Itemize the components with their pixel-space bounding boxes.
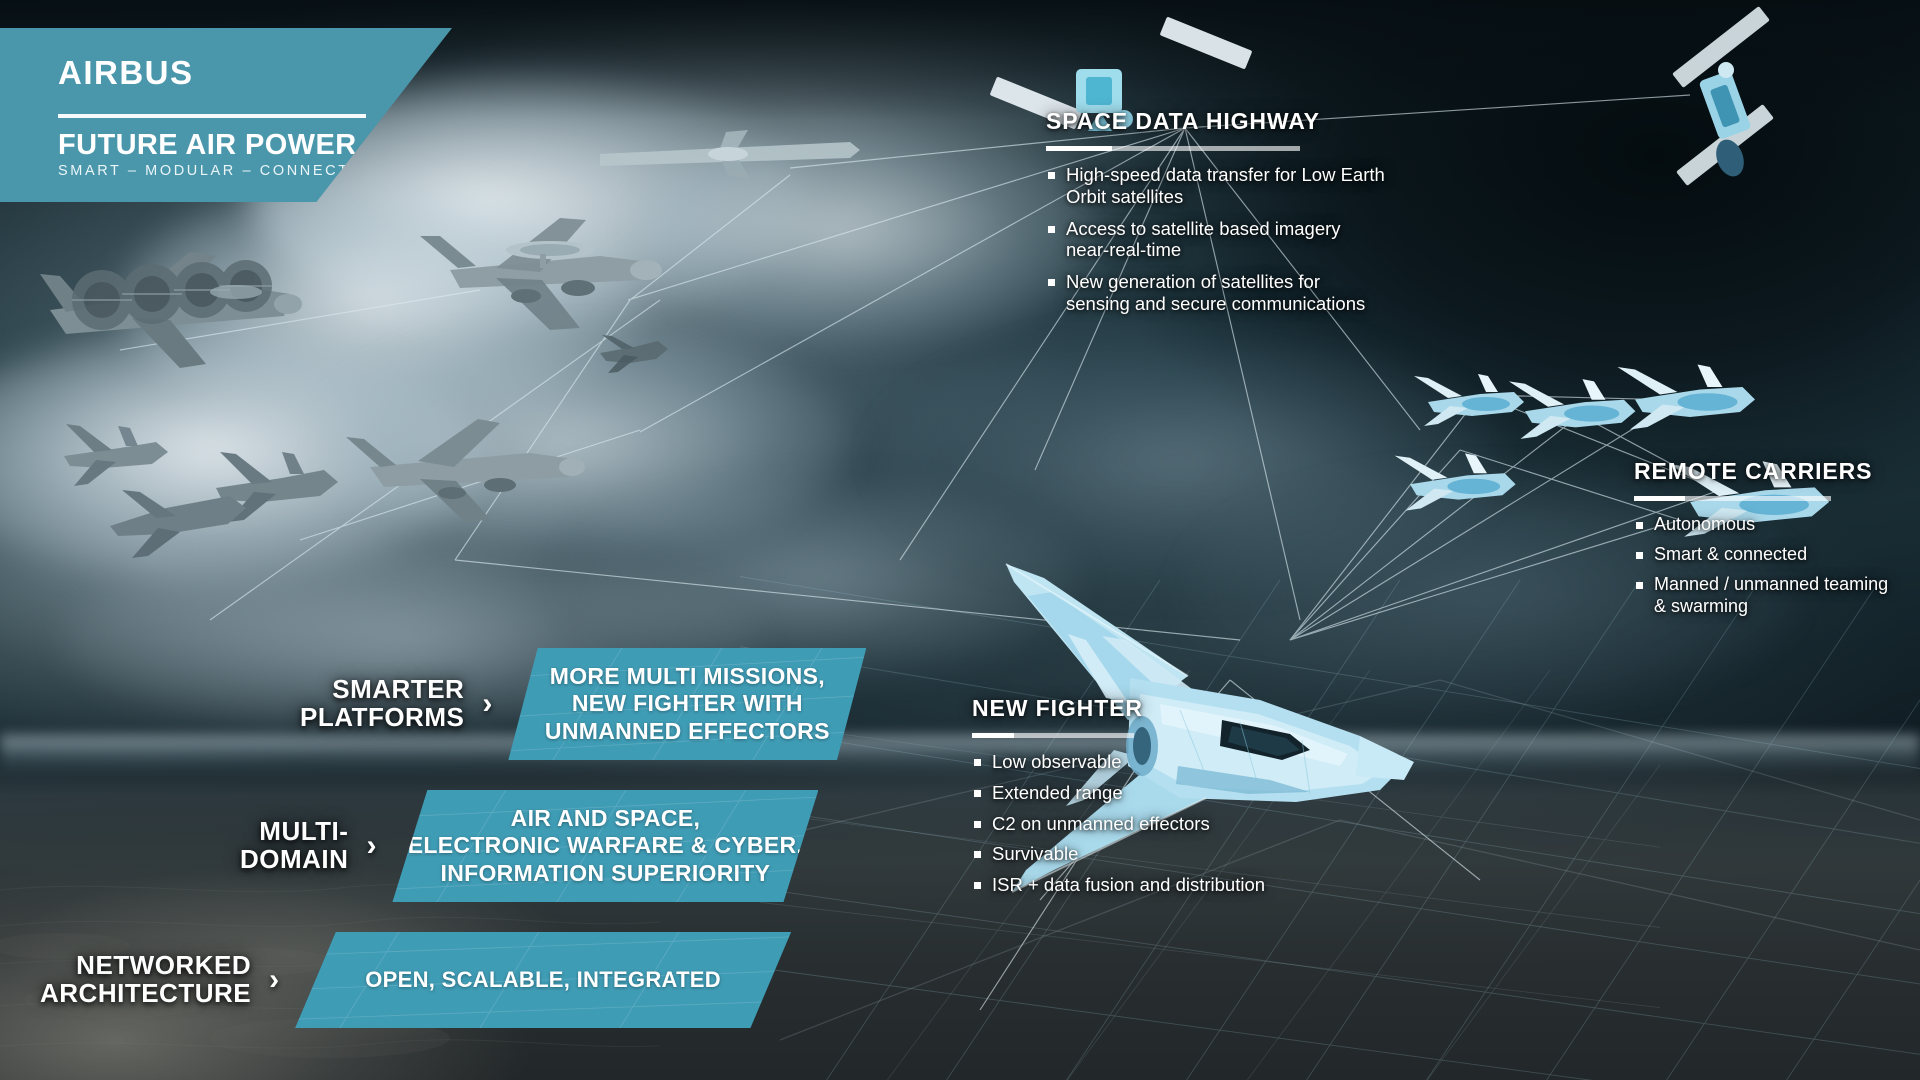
- remote-carrier-drone-icon: [1414, 374, 1524, 426]
- chevron-right-icon: ›: [482, 689, 492, 719]
- callout-space-data-highway: SPACE DATA HIGHWAY High-speed data trans…: [1046, 108, 1386, 325]
- callout-bullet-list: Autonomous Smart & connected Manned / un…: [1634, 514, 1896, 617]
- callout-divider: [1634, 496, 1831, 501]
- list-item: New generation of satellites for sensing…: [1046, 271, 1386, 315]
- remote-carrier-drone-icon: [1509, 379, 1636, 439]
- stealth-bomber-icon: [110, 490, 246, 558]
- list-item: ISR + data fusion and distribution: [972, 874, 1372, 896]
- high-altitude-uav-icon: [600, 130, 860, 178]
- list-item: Access to satellite based imagery near-r…: [1046, 218, 1386, 262]
- pillar-label: SMARTER PLATFORMS: [300, 676, 464, 731]
- awacs-aircraft-icon: [420, 218, 662, 330]
- eurofighter-jet-icon: [64, 424, 168, 486]
- list-item: Smart & connected: [1634, 544, 1896, 565]
- callout-remote-carriers: REMOTE CARRIERS Autonomous Smart & conne…: [1634, 458, 1896, 626]
- pillar-label: NETWORKED ARCHITECTURE: [40, 952, 251, 1007]
- a400m-transport-icon: [40, 252, 302, 368]
- fighter-silhouette-icon: [600, 335, 668, 373]
- callout-new-fighter: NEW FIGHTER Low observable Extended rang…: [972, 695, 1372, 905]
- header-divider: [58, 114, 366, 118]
- remote-carrier-drone-icon: [1395, 453, 1516, 510]
- callout-divider: [972, 733, 1134, 738]
- pillar-band: MORE MULTI MISSIONS, NEW FIGHTER WITH UN…: [508, 648, 866, 760]
- pillar-multi-domain: MULTI- DOMAIN › AIR AND SPACE, ELECTRONI…: [240, 790, 818, 902]
- pillar-label: MULTI- DOMAIN: [240, 818, 348, 873]
- callout-bullet-list: Low observable Extended range C2 on unma…: [972, 751, 1372, 896]
- callout-bullet-list: High-speed data transfer for Low Earth O…: [1046, 164, 1386, 315]
- list-item: Autonomous: [1634, 514, 1896, 535]
- list-item: C2 on unmanned effectors: [972, 813, 1372, 835]
- pillar-band: OPEN, SCALABLE, INTEGRATED: [295, 932, 791, 1028]
- list-item: Extended range: [972, 782, 1372, 804]
- list-item: Low observable: [972, 751, 1372, 773]
- callout-divider: [1046, 146, 1300, 151]
- remote-carrier-drone-icon: [1618, 365, 1756, 430]
- callout-heading: REMOTE CARRIERS: [1634, 458, 1896, 485]
- pillar-band-text: AIR AND SPACE, ELECTRONIC WARFARE & CYBE…: [408, 805, 803, 888]
- list-item: Survivable: [972, 843, 1372, 865]
- airbus-logo: AIRBUS: [58, 54, 452, 92]
- callout-heading: NEW FIGHTER: [972, 695, 1372, 722]
- infographic-canvas: AIRBUS FUTURE AIR POWER SMART – MODULAR …: [0, 0, 1920, 1080]
- chevron-right-icon: ›: [269, 965, 279, 995]
- pillar-smarter-platforms: SMARTER PLATFORMS › MORE MULTI MISSIONS,…: [300, 648, 866, 760]
- chevron-right-icon: ›: [366, 831, 376, 861]
- pillar-band: AIR AND SPACE, ELECTRONIC WARFARE & CYBE…: [392, 790, 818, 902]
- list-item: Manned / unmanned teaming & swarming: [1634, 574, 1896, 616]
- pillar-band-text: MORE MULTI MISSIONS, NEW FIGHTER WITH UN…: [545, 663, 830, 746]
- pillar-networked-architecture: NETWORKED ARCHITECTURE › OPEN, SCALABLE,…: [40, 932, 791, 1028]
- satellite-laser-terminal-icon: [1672, 6, 1774, 186]
- callout-heading: SPACE DATA HIGHWAY: [1046, 108, 1386, 135]
- pillar-band-text: OPEN, SCALABLE, INTEGRATED: [365, 967, 721, 993]
- tanker-aircraft-icon: [346, 419, 585, 523]
- list-item: High-speed data transfer for Low Earth O…: [1046, 164, 1386, 208]
